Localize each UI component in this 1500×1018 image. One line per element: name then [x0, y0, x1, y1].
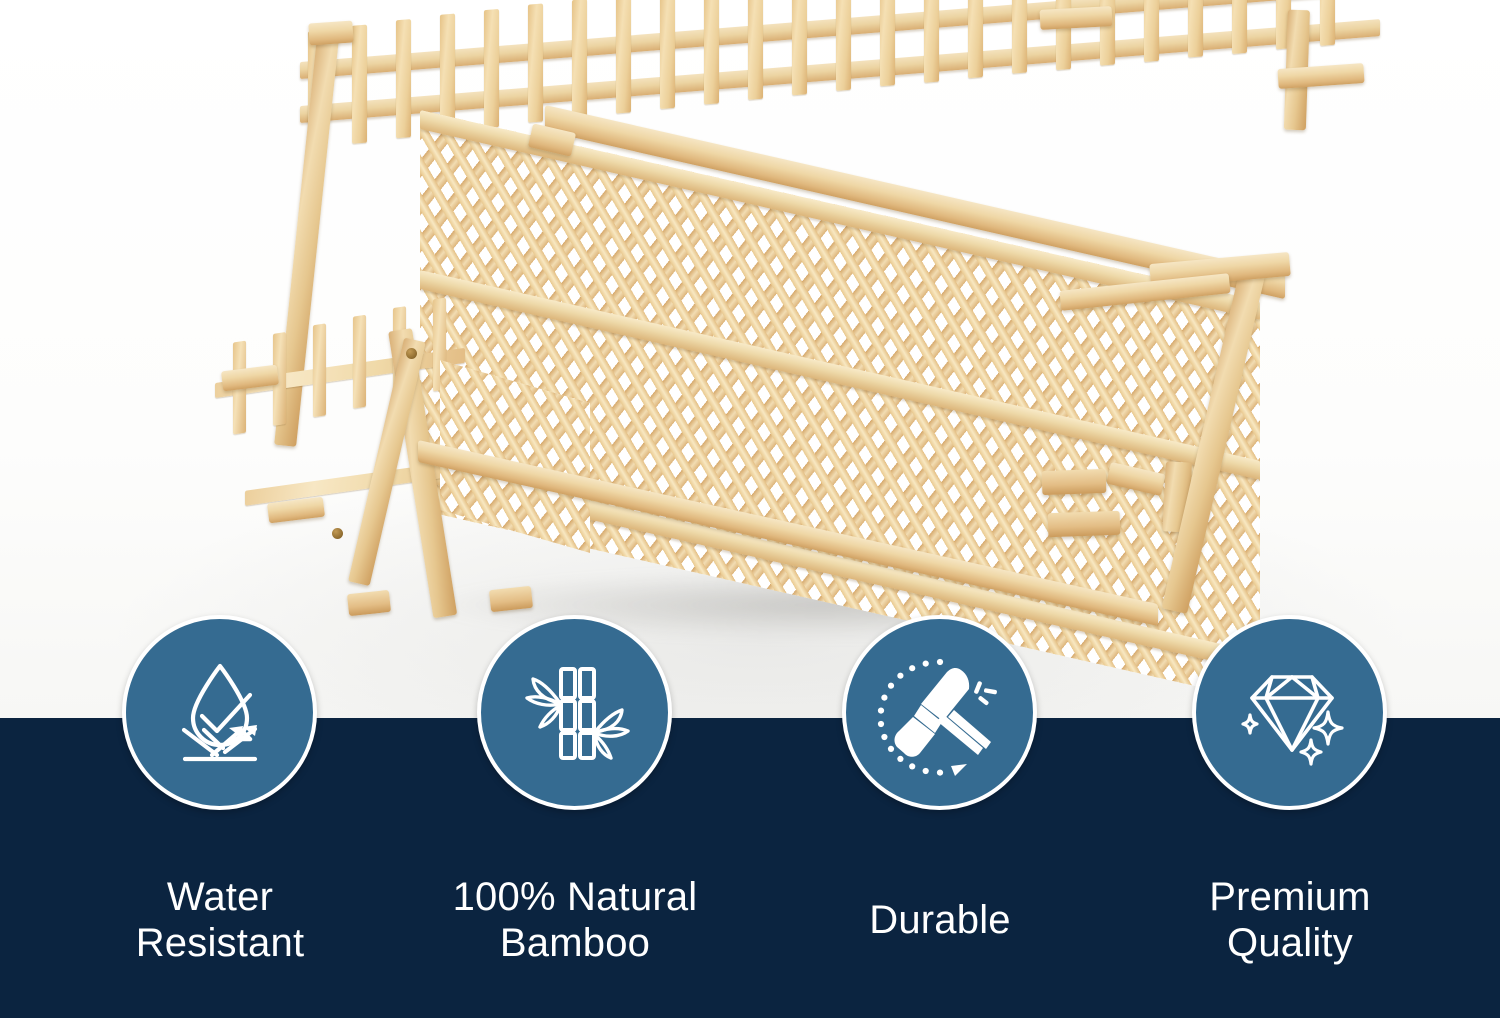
- product-feature-banner: Water Resistant: [0, 0, 1500, 1018]
- rack-left-foot: [347, 590, 391, 616]
- feature-label-natural-bamboo: 100% Natural Bamboo: [445, 875, 705, 966]
- rack-left-foot-2: [489, 586, 533, 612]
- rack-pivot-screw-lower: [332, 528, 343, 539]
- feature-label-water-resistant: Water Resistant: [90, 875, 350, 966]
- product-photo: [0, 0, 1500, 718]
- water-droplet-check-icon: [155, 648, 285, 778]
- dish-rack-illustration: [0, 0, 1500, 718]
- feature-badge-water-resistant[interactable]: [122, 615, 317, 810]
- feature-label-premium-quality: Premium Quality: [1160, 875, 1420, 966]
- rack-rear-right-cap: [1040, 6, 1113, 30]
- rack-rear-left-cap: [308, 20, 353, 45]
- feature-badge-natural-bamboo[interactable]: [477, 615, 672, 810]
- feature-label-durable: Durable: [810, 898, 1070, 944]
- diamond-sparkle-icon: [1225, 648, 1355, 778]
- rack-right-foot: [1042, 469, 1107, 495]
- rack-pivot-screw-upper: [406, 348, 417, 359]
- rack-right-foot-2: [1048, 511, 1121, 537]
- hammer-impact-icon: [875, 648, 1005, 778]
- feature-badge-premium-quality[interactable]: [1192, 615, 1387, 810]
- bamboo-stalks-icon: [510, 648, 640, 778]
- feature-badge-durable[interactable]: [842, 615, 1037, 810]
